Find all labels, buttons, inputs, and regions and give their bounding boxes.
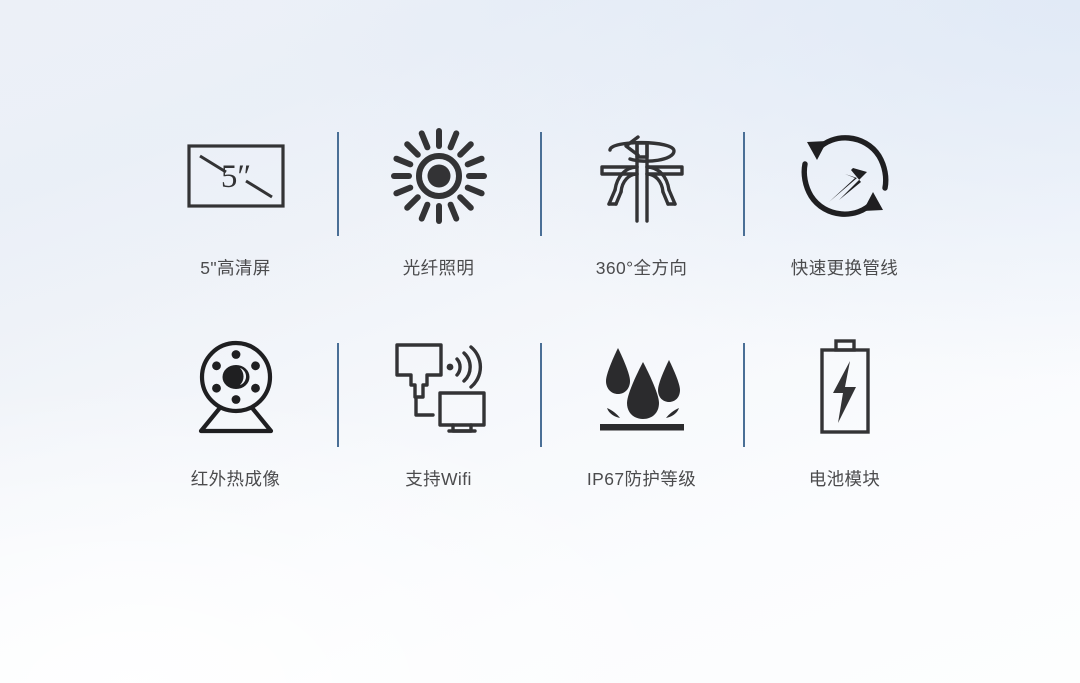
screen-size-text: 5″	[220, 159, 250, 195]
screen-5-inch-icon: 5″	[184, 124, 288, 228]
feature-label: 支持Wifi	[405, 469, 472, 490]
feature-item-hd-screen: 5″ 5"高清屏	[134, 124, 337, 335]
probe-360-rotation-icon	[590, 124, 694, 228]
feature-item-infrared-thermal: 红外热成像	[134, 335, 337, 546]
infrared-thermal-camera-icon	[185, 335, 287, 439]
feature-label: IP67防护等级	[587, 469, 696, 490]
feature-item-wifi-support: 支持Wifi	[337, 335, 540, 546]
feature-item-360-direction: 360°全方向	[540, 124, 743, 335]
feature-label: 光纤照明	[403, 258, 475, 279]
feature-label: 360°全方向	[596, 258, 688, 279]
feature-label: 红外热成像	[191, 469, 281, 490]
feature-label: 5"高清屏	[200, 258, 270, 279]
feature-label: 快速更换管线	[791, 258, 898, 279]
feature-label: 电池模块	[809, 469, 881, 490]
waterproof-droplets-icon	[590, 335, 694, 439]
feature-grid: 5″ 5"高清屏	[0, 0, 1080, 683]
quick-swap-cable-icon	[795, 124, 895, 228]
feature-item-ip67-protection: IP67防护等级	[540, 335, 743, 546]
sun-fiber-light-icon	[390, 124, 488, 228]
feature-item-battery-module: 电池模块	[743, 335, 946, 546]
battery-module-icon	[814, 335, 876, 439]
feature-item-quick-swap-cable: 快速更换管线	[743, 124, 946, 335]
wifi-transmitter-monitor-icon	[387, 335, 491, 439]
feature-item-fiber-light: 光纤照明	[337, 124, 540, 335]
